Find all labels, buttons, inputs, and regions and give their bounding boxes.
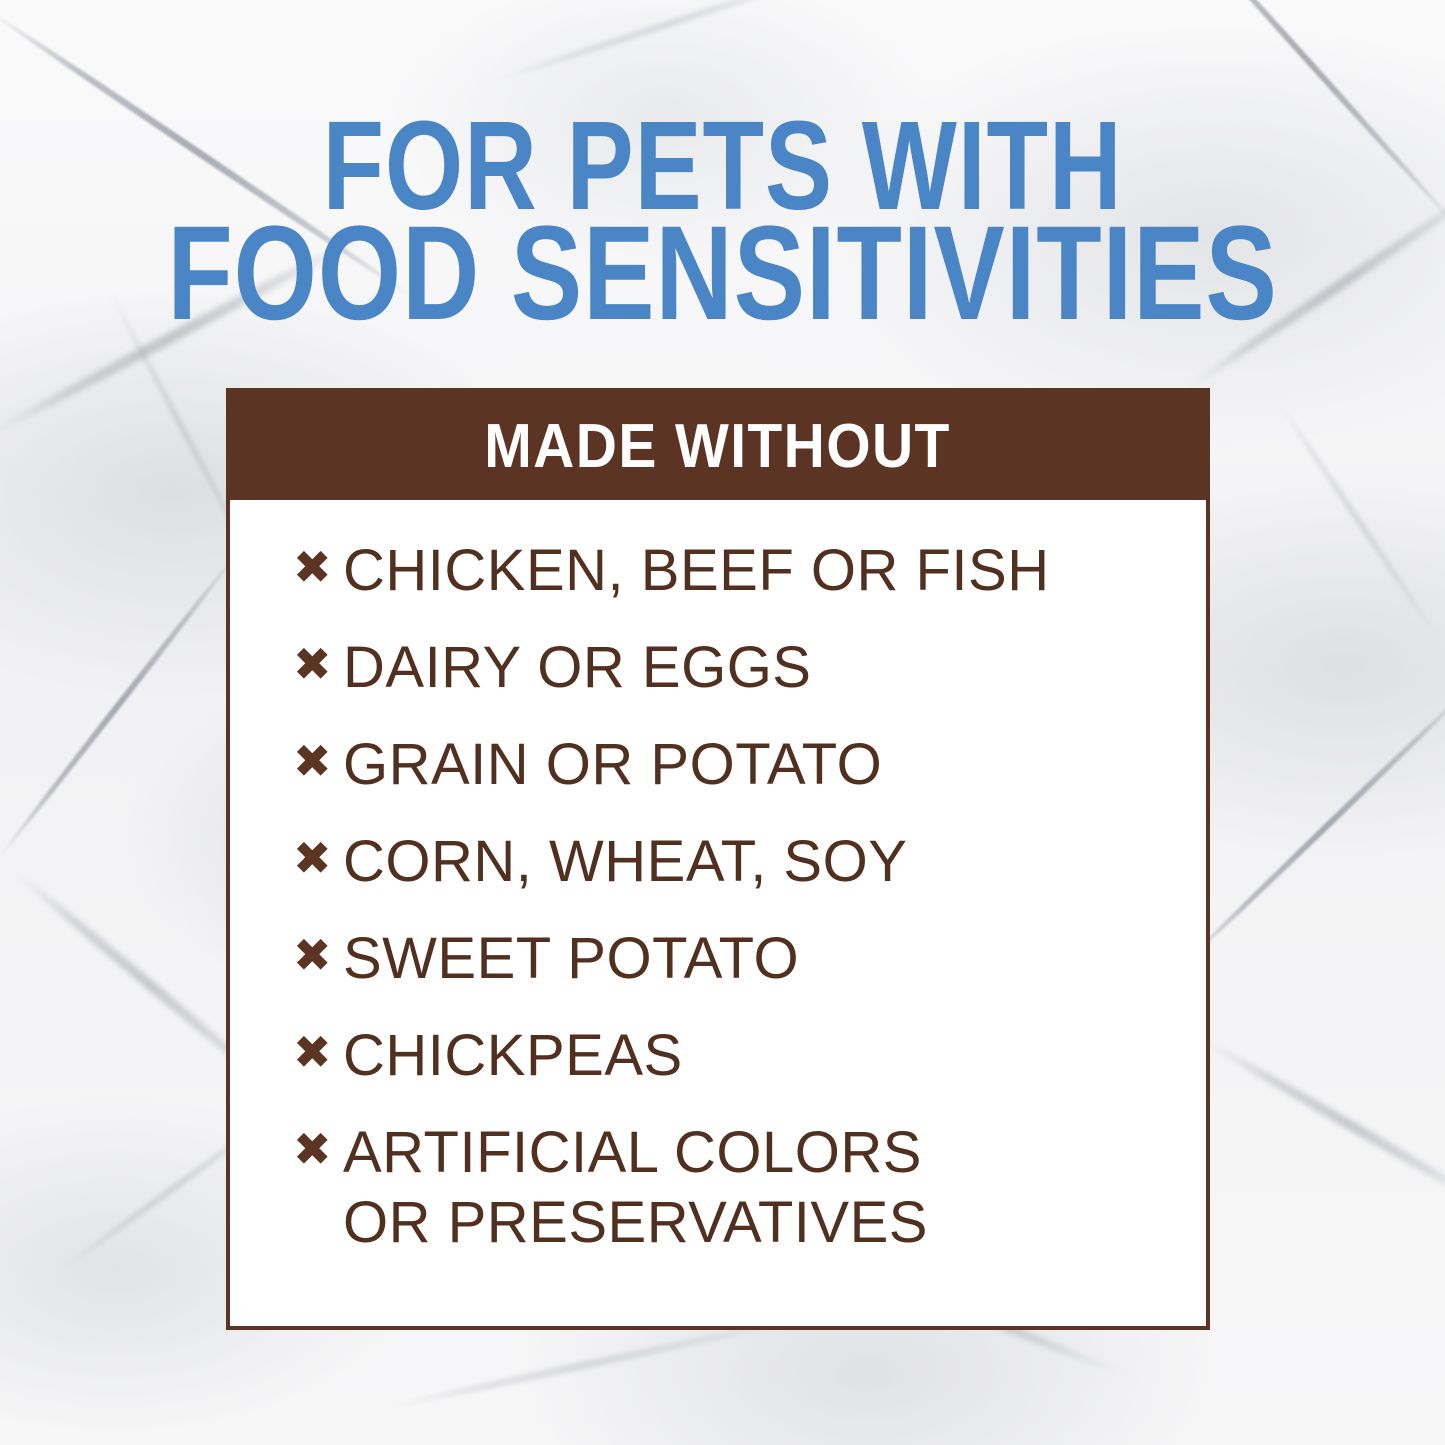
poster-headline: FOR PETS WITH FOOD SENSITIVITIES [145,112,1301,328]
list-item-label: ARTIFICIAL COLORS OR PRESERVATIVES [339,1118,1206,1258]
list-item-label: CHICKPEAS [339,1021,1206,1091]
x-mark-icon: ✖ [293,1126,339,1172]
list-item: ✖CHICKPEAS [230,1021,1206,1118]
list-item-label: GRAIN OR POTATO [339,730,1206,800]
list-item: ✖DAIRY OR EGGS [230,633,1206,730]
list-item-label: SWEET POTATO [339,924,1206,994]
x-mark-icon: ✖ [293,835,339,881]
x-mark-icon: ✖ [293,544,339,590]
x-mark-icon: ✖ [293,738,339,784]
excluded-ingredients-list: ✖CHICKEN, BEEF OR FISH✖DAIRY OR EGGS✖GRA… [230,536,1206,1268]
list-item: ✖SWEET POTATO [230,924,1206,1021]
card-header: MADE WITHOUT [230,392,1206,500]
list-item-label: DAIRY OR EGGS [339,633,1206,703]
x-mark-icon: ✖ [293,1029,339,1075]
made-without-card: MADE WITHOUT ✖CHICKEN, BEEF OR FISH✖DAIR… [226,388,1210,1330]
list-item: ✖CHICKEN, BEEF OR FISH [230,536,1206,633]
list-item: ✖GRAIN OR POTATO [230,730,1206,827]
card-body: ✖CHICKEN, BEEF OR FISH✖DAIRY OR EGGS✖GRA… [230,500,1206,1326]
headline-line-2: FOOD SENSITIVITIES [145,220,1301,328]
card-header-title: MADE WITHOUT [485,411,951,482]
list-item: ✖ARTIFICIAL COLORS OR PRESERVATIVES [230,1118,1206,1268]
list-item: ✖CORN, WHEAT, SOY [230,827,1206,924]
x-mark-icon: ✖ [293,932,339,978]
x-mark-icon: ✖ [293,641,339,687]
pet-food-claims-poster: FOR PETS WITH FOOD SENSITIVITIES MADE WI… [0,0,1445,1445]
list-item-label: CHICKEN, BEEF OR FISH [339,536,1206,606]
list-item-label: CORN, WHEAT, SOY [339,827,1206,897]
